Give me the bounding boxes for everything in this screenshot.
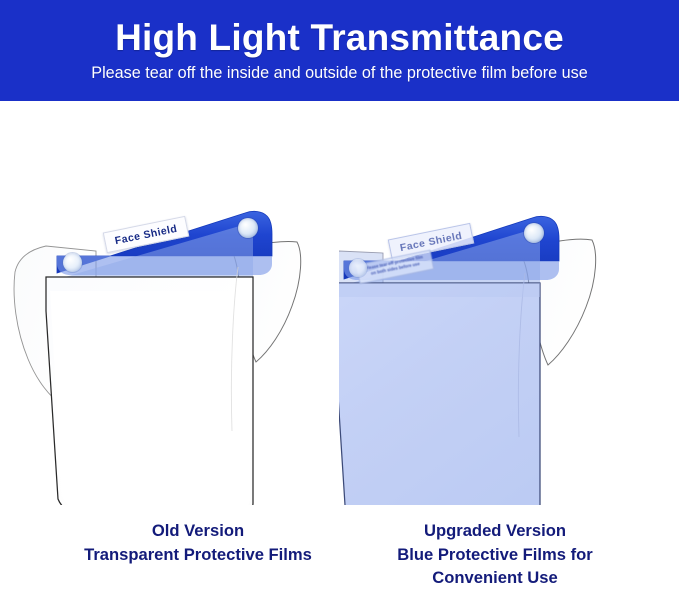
visor-inner-fill-old <box>50 291 250 505</box>
caption-old-line-1: Old Version <box>38 519 358 543</box>
headband-eyelet-right-upgraded <box>524 223 544 243</box>
headband-eyelet-right-old <box>238 218 258 238</box>
face-shield-illustration-old <box>0 101 340 505</box>
headband-eyelet-left-upgraded <box>349 259 367 277</box>
banner-subtitle: Please tear off the inside and outside o… <box>91 65 587 83</box>
caption-upgraded-line-3: Convenient Use <box>330 566 660 590</box>
caption-upgraded-line-1: Upgraded Version <box>330 519 660 543</box>
banner-title: High Light Transmittance <box>115 19 564 58</box>
face-shield-illustration-upgraded <box>339 101 679 505</box>
caption-upgraded-line-2: Blue Protective Films for <box>330 543 660 567</box>
caption-upgraded-version: Upgraded Version Blue Protective Films f… <box>330 519 660 590</box>
header-banner: High Light Transmittance Please tear off… <box>0 0 679 101</box>
caption-old-version: Old Version Transparent Protective Films <box>38 519 358 566</box>
product-comparison-area: Face Shield <box>0 101 679 505</box>
shield-visor-blue-film <box>339 283 540 505</box>
product-image-upgraded-version: Face Shield Please tear off protective f… <box>339 101 679 505</box>
headband-eyelet-left-old <box>63 253 82 272</box>
caption-old-line-2: Transparent Protective Films <box>38 543 358 567</box>
product-image-old-version: Face Shield <box>0 101 340 505</box>
caption-row: Old Version Transparent Protective Films… <box>0 505 679 596</box>
film-top-edge-tint <box>339 283 540 297</box>
